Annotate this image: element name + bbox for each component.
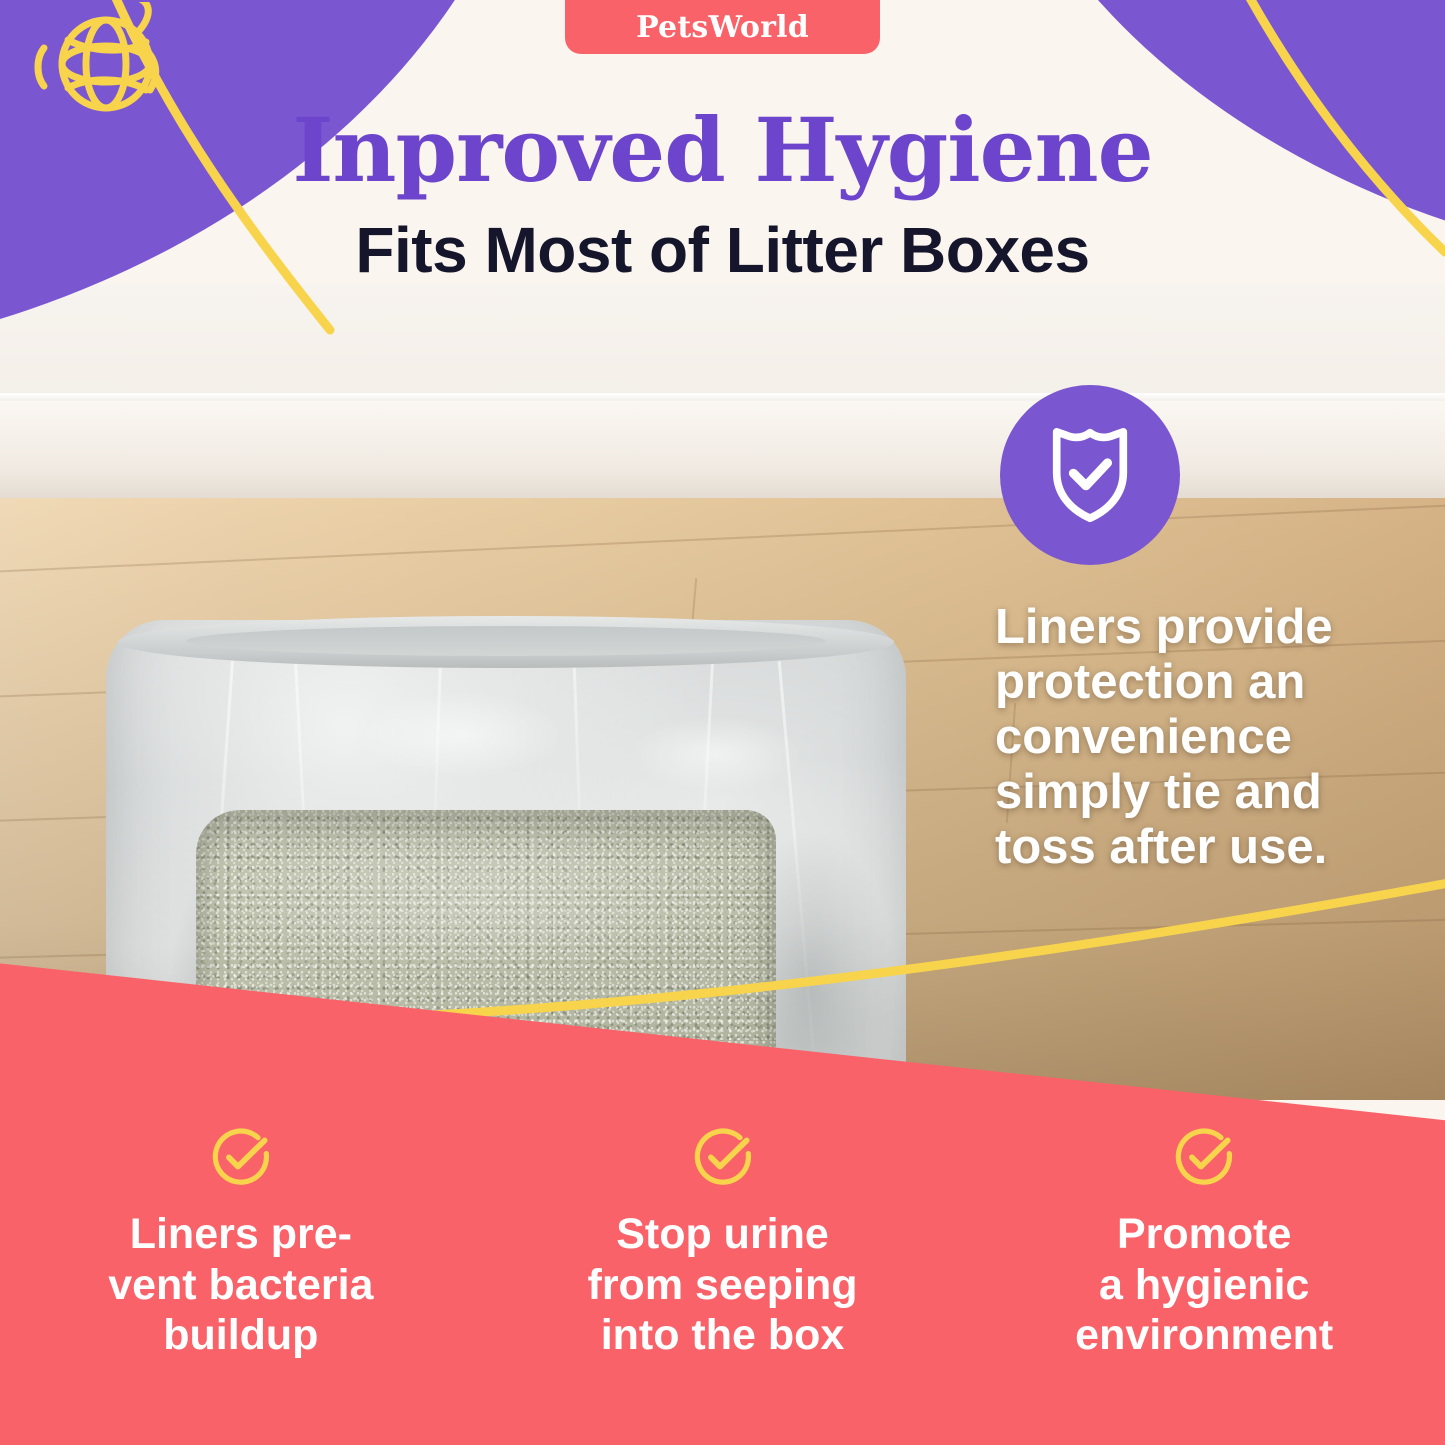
feature-item: Promote a hygienic environment <box>963 1125 1445 1361</box>
page-title: Inproved Hygiene <box>0 106 1445 194</box>
brand-logo-text: PetsWorld <box>636 10 809 45</box>
shield-badge <box>1000 385 1180 565</box>
check-circle-icon <box>208 1125 274 1191</box>
litter-box <box>58 610 948 1100</box>
shield-check-icon <box>1036 421 1144 529</box>
liner-rim-inner <box>186 626 826 656</box>
highlight-text: Liners provide protection an convenience… <box>995 600 1395 874</box>
check-circle-icon <box>1171 1125 1237 1191</box>
litter-sheen <box>208 824 748 974</box>
check-circle-icon <box>690 1125 756 1191</box>
infographic-canvas: PetsWorld Inproved Hygiene Fits Most of … <box>0 0 1445 1445</box>
feature-label: Stop urine from seeping into the box <box>502 1209 944 1361</box>
feature-label: Promote a hygienic environment <box>983 1209 1425 1361</box>
brand-logo-badge: PetsWorld <box>565 0 880 54</box>
feature-item: Liners pre- vent bacteria buildup <box>0 1125 482 1361</box>
feature-list: Liners pre- vent bacteria buildup Stop u… <box>0 1125 1445 1425</box>
page-subtitle: Fits Most of Litter Boxes <box>0 218 1445 282</box>
feature-item: Stop urine from seeping into the box <box>482 1125 964 1361</box>
feature-label: Liners pre- vent bacteria buildup <box>20 1209 462 1361</box>
baseboard <box>0 401 1445 499</box>
